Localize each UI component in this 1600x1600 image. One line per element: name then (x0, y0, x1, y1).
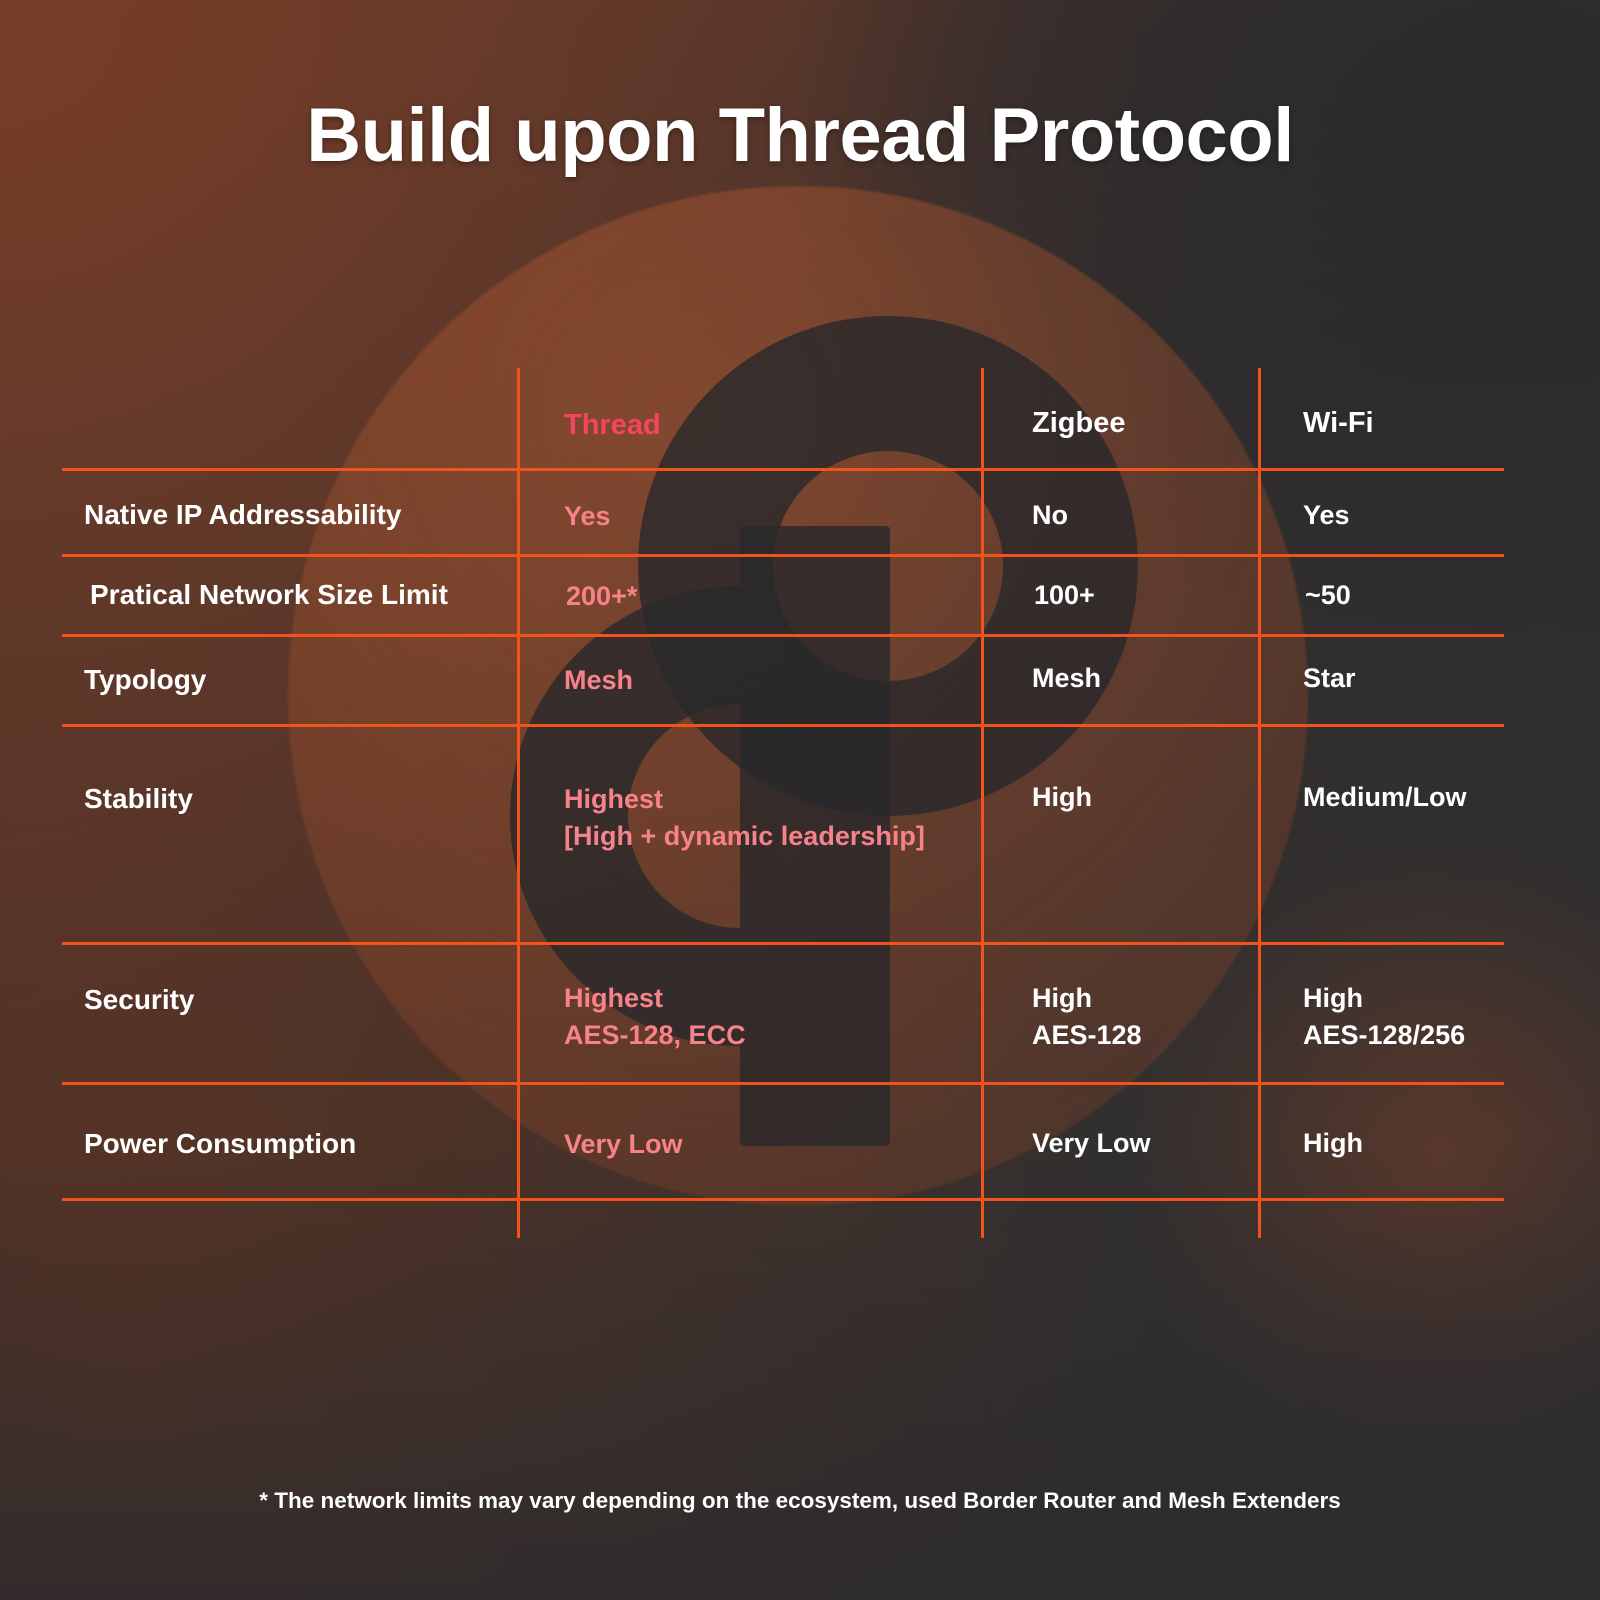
column-header-zigbee: Zigbee (1032, 404, 1125, 443)
cell-wifi-security: High AES-128/256 (1303, 980, 1465, 1053)
cell-zigbee-power-consumption: Very Low (1032, 1125, 1151, 1162)
cell-thread-stability: Highest [High + dynamic leadership] (564, 781, 925, 854)
cell-zigbee-network-size: 100+ (1034, 577, 1095, 614)
cell-thread-power-consumption: Very Low (564, 1126, 683, 1163)
column-header-wifi: Wi-Fi (1303, 404, 1374, 443)
row-label-native-ip: Native IP Addressability (84, 496, 401, 534)
row-label-stability: Stability (84, 780, 193, 818)
grid-line-horizontal (62, 1082, 1504, 1085)
row-label-typology: Typology (84, 661, 206, 699)
grid-line-horizontal (62, 724, 1504, 727)
cell-wifi-stability: Medium/Low (1303, 779, 1467, 816)
cell-wifi-native-ip: Yes (1303, 497, 1350, 534)
grid-line-vertical (517, 368, 520, 1238)
cell-thread-native-ip: Yes (564, 498, 611, 535)
cell-thread-typology: Mesh (564, 662, 633, 699)
grid-line-horizontal (62, 468, 1504, 471)
grid-line-vertical (981, 368, 984, 1238)
cell-wifi-network-size: ~50 (1305, 577, 1351, 614)
cell-thread-security: Highest AES-128, ECC (564, 980, 746, 1053)
grid-line-vertical (1258, 368, 1261, 1238)
cell-zigbee-typology: Mesh (1032, 660, 1101, 697)
cell-wifi-power-consumption: High (1303, 1125, 1363, 1162)
cell-zigbee-stability: High (1032, 779, 1092, 816)
grid-line-horizontal (62, 554, 1504, 557)
footnote-text: * The network limits may vary depending … (0, 1488, 1600, 1514)
infographic-page: Build upon Thread Protocol Thread Zigbee… (0, 0, 1600, 1600)
row-label-security: Security (84, 981, 195, 1019)
cell-zigbee-security: High AES-128 (1032, 980, 1142, 1053)
grid-line-horizontal (62, 1198, 1504, 1201)
cell-wifi-typology: Star (1303, 660, 1356, 697)
grid-line-horizontal (62, 634, 1504, 637)
comparison-table: Thread Zigbee Wi-Fi Native IP Addressabi… (62, 368, 1504, 1238)
page-title: Build upon Thread Protocol (0, 92, 1600, 179)
cell-thread-network-size: 200+* (566, 578, 637, 615)
row-label-network-size: Pratical Network Size Limit (90, 576, 448, 614)
grid-line-horizontal (62, 942, 1504, 945)
row-label-power-consumption: Power Consumption (84, 1125, 356, 1163)
cell-zigbee-native-ip: No (1032, 497, 1068, 534)
column-header-thread: Thread (564, 406, 661, 445)
